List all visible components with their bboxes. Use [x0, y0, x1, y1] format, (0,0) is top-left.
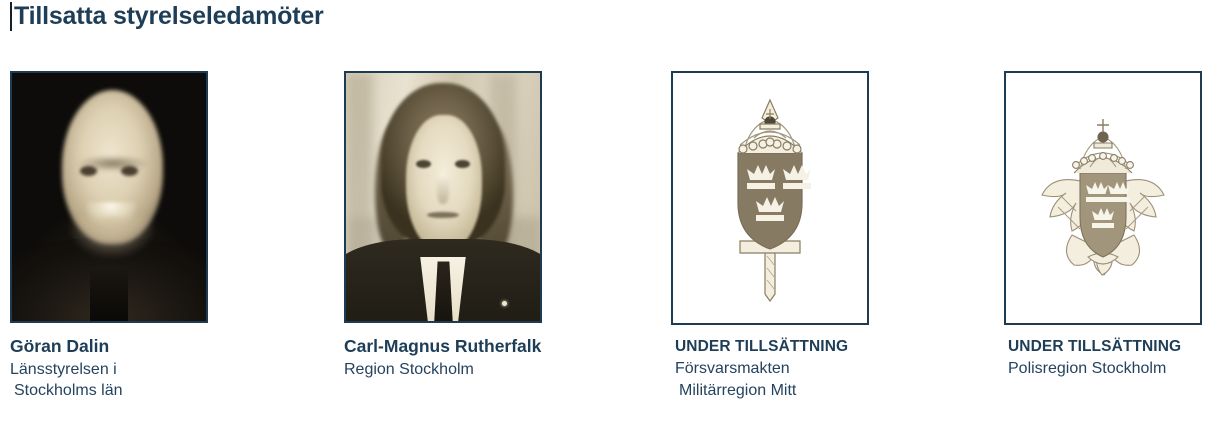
member-organisation-line1: Länsstyrelsen i [10, 361, 117, 378]
member-organisation-line1: Försvarsmakten [675, 360, 790, 377]
member-name: UNDER TILLSÄTTNING [1008, 337, 1202, 357]
member-photo-frame [10, 71, 208, 323]
member-organisation-line1: Region Stockholm [344, 361, 474, 378]
portrait-goran-dalin [12, 73, 206, 321]
member-label: Göran Dalin Länsstyrelsen i Stockholms l… [10, 335, 208, 401]
member-organisation: Polisregion Stockholm [1008, 358, 1202, 379]
board-member-card[interactable]: Göran Dalin Länsstyrelsen i Stockholms l… [10, 71, 208, 401]
text-caret [10, 2, 12, 31]
board-members-grid: Göran Dalin Länsstyrelsen i Stockholms l… [0, 71, 1212, 423]
member-label: UNDER TILLSÄTTNING Försvarsmakten Militä… [671, 337, 869, 401]
member-photo-frame [344, 71, 542, 323]
board-member-card[interactable]: UNDER TILLSÄTTNING Polisregion Stockholm [1004, 71, 1202, 380]
portrait-carl-magnus-rutherfalk [346, 73, 540, 321]
member-name: Carl-Magnus Rutherfalk [344, 335, 542, 358]
forsvarsmakten-crest-icon [673, 73, 867, 323]
member-label: Carl-Magnus Rutherfalk Region Stockholm [344, 335, 542, 380]
member-organisation: Försvarsmakten Militärregion Mitt [675, 358, 869, 400]
page-title: Tillsatta styrelseledamöter [14, 2, 324, 31]
member-organisation-line2: Militärregion Mitt [675, 380, 869, 401]
member-organisation-line2: Stockholms län [10, 380, 208, 401]
member-organisation-line1: Polisregion Stockholm [1008, 360, 1166, 377]
member-name: Göran Dalin [10, 335, 208, 358]
board-member-card[interactable]: Carl-Magnus Rutherfalk Region Stockholm [344, 71, 542, 380]
board-member-card[interactable]: UNDER TILLSÄTTNING Försvarsmakten Militä… [671, 71, 869, 401]
polisen-crest-icon [1006, 73, 1200, 323]
member-crest-frame [671, 71, 869, 325]
member-organisation: Länsstyrelsen i Stockholms län [10, 359, 208, 401]
member-crest-frame [1004, 71, 1202, 325]
member-organisation: Region Stockholm [344, 359, 542, 380]
member-label: UNDER TILLSÄTTNING Polisregion Stockholm [1004, 337, 1202, 380]
member-name: UNDER TILLSÄTTNING [675, 337, 869, 357]
